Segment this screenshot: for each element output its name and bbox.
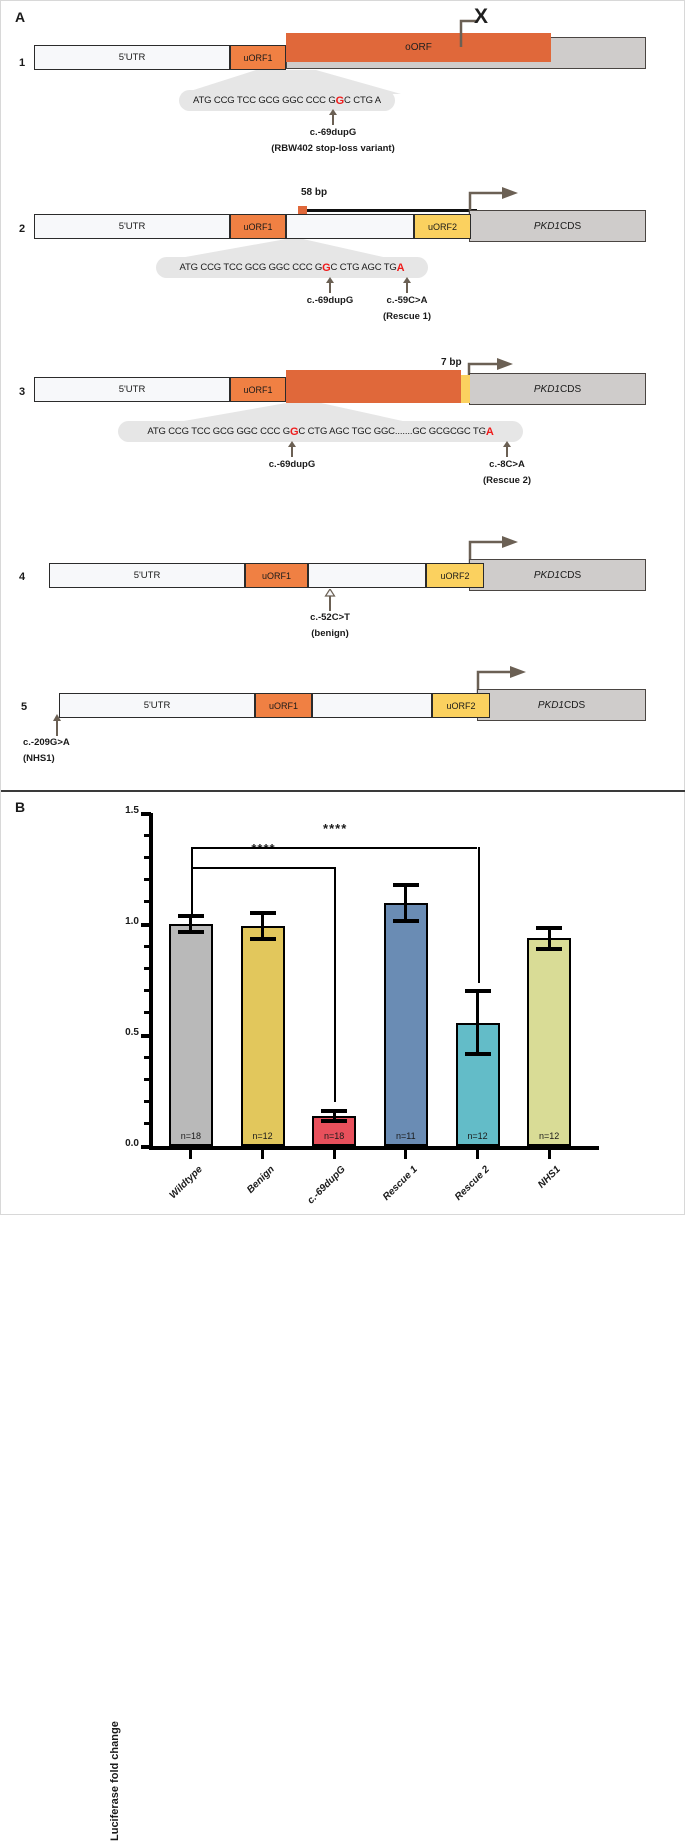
error-bar-cap-top: [465, 989, 491, 993]
construct-4-cds-suffix: CDS: [560, 570, 581, 581]
figure-root: A 1 oORF 5'UTR uORF1 X ATG CCG TCC GCG G…: [0, 0, 685, 1215]
y-tick-minor: [144, 856, 151, 859]
construct-3-cds-suffix: CDS: [560, 384, 581, 395]
y-tick-minor: [144, 834, 151, 837]
error-bar-cap-bottom: [536, 947, 562, 951]
construct-2-spacer: [286, 214, 414, 239]
construct-1-variant-note: (RBW402 stop-loss variant): [253, 143, 413, 154]
bar-n-label: n=12: [456, 1131, 500, 1141]
construct-4-cds-gene: PKD1: [534, 570, 560, 581]
x-tick-label-benign: Benign: [226, 1164, 276, 1214]
construct-5-variant-note: (NHS1): [23, 753, 143, 764]
construct-5-variant-name: c.-209G>A: [23, 737, 143, 748]
seq1-post: C CTG A: [344, 95, 381, 106]
error-bar-cap-top: [250, 911, 276, 915]
y-tick-major: [141, 923, 151, 927]
y-tick-minor: [144, 1011, 151, 1014]
error-bar-cap-bottom: [393, 919, 419, 923]
construct-4-variant-arrow-icon: [324, 589, 336, 611]
y-tick-label: 0.0: [105, 1138, 139, 1149]
construct-1-variant-arrow-icon: [327, 109, 339, 125]
x-tick: [189, 1150, 192, 1159]
construct-3-sequence: ATG CCG TCC GCG GGC CCC GGC CTG AGC TGC …: [118, 421, 523, 442]
construct-5-number: 5: [21, 701, 27, 713]
y-tick-minor: [144, 967, 151, 970]
construct-3-variant2-arrow-icon: [501, 441, 513, 457]
construct-5-uorf1: uORF1: [255, 693, 312, 718]
construct-3-utr-label: 5'UTR: [119, 384, 146, 395]
panel-a-label: A: [15, 9, 25, 25]
bar-n-label: n=12: [527, 1131, 571, 1141]
bar-wildtype[interactable]: [169, 924, 213, 1146]
construct-1-sequence: ATG CCG TCC GCG GGC CCC GGC CTG A: [179, 90, 395, 111]
x-tick: [404, 1150, 407, 1159]
error-bar-stem: [261, 913, 264, 940]
construct-4-uorf2: uORF2: [426, 563, 484, 588]
seq1-pre: ATG CCG TCC GCG GGC CCC G: [193, 95, 336, 106]
bar-nhs1[interactable]: [527, 938, 571, 1146]
construct-2-distance-label: 58 bp: [301, 187, 327, 198]
construct-4-utr-label: 5'UTR: [134, 570, 161, 581]
significance-stars: ****: [314, 821, 356, 836]
significance-bracket-line: [191, 867, 334, 869]
construct-4-spacer: [308, 563, 426, 588]
error-bar-stem: [404, 884, 407, 922]
error-bar-cap-bottom: [250, 937, 276, 941]
construct-3-variant2-note: (Rescue 2): [449, 475, 565, 486]
y-tick-label: 0.5: [105, 1027, 139, 1038]
x-tick: [333, 1150, 336, 1159]
x-tick-label-wildtype: Wildtype: [154, 1164, 204, 1214]
construct-3-variant2-name: c.-8C>A: [449, 459, 565, 470]
construct-4-uorf2-label: uORF2: [440, 571, 469, 581]
error-bar-cap-bottom: [465, 1052, 491, 1056]
seq2-hl2: A: [397, 262, 405, 274]
construct-5-cds: PKD1 CDS: [477, 689, 646, 721]
bar-n-label: n=18: [312, 1131, 356, 1141]
construct-1-variant-name: c.-69dupG: [273, 127, 393, 138]
bar-rescue-1[interactable]: [384, 903, 428, 1146]
seq2-hl: G: [322, 262, 330, 274]
y-axis-label: Luciferase fold change: [109, 1721, 121, 1841]
construct-3-extended-uorf: [286, 370, 461, 403]
error-bar-cap-top: [178, 914, 204, 918]
y-tick-minor: [144, 989, 151, 992]
construct-4-number: 4: [19, 571, 25, 583]
construct-4-uorf1-label: uORF1: [262, 571, 291, 581]
y-tick-minor: [144, 900, 151, 903]
bar-benign[interactable]: [241, 926, 285, 1146]
construct-4-uorf1: uORF1: [245, 563, 308, 588]
construct-2-utr-label: 5'UTR: [119, 221, 146, 232]
construct-5-uorf1-label: uORF1: [269, 701, 298, 711]
construct-1-uorf1-label: uORF1: [243, 53, 272, 63]
construct-4-cds: PKD1 CDS: [469, 559, 646, 591]
construct-1-number: 1: [19, 57, 25, 69]
x-axis-line: [149, 1146, 599, 1150]
construct-1-utr: 5'UTR: [34, 45, 230, 70]
construct-2-number: 2: [19, 223, 25, 235]
construct-5-utr: 5'UTR: [59, 693, 255, 718]
y-tick-minor: [144, 945, 151, 948]
construct-1-uorf1: uORF1: [230, 45, 286, 70]
construct-2-cds-gene: PKD1: [534, 221, 560, 232]
significance-bracket-right: [334, 867, 336, 1101]
construct-3-variant1-name: c.-69dupG: [232, 459, 352, 470]
significance-bracket-left: [191, 847, 193, 889]
construct-1-utr-label: 5'UTR: [119, 52, 146, 63]
y-tick-minor: [144, 1056, 151, 1059]
seq2-pre: ATG CCG TCC GCG GGC CCC G: [180, 262, 323, 273]
significance-bracket-line: [191, 847, 478, 849]
construct-2-variant2-note: (Rescue 1): [349, 311, 465, 322]
error-bar-cap-top: [536, 926, 562, 930]
seq3-hl: G: [290, 426, 298, 438]
seq3-mid: C CTG AGC TGC GGC.......GC GCGCGC TG: [298, 426, 485, 437]
x-tick-label-nhs1: NHS1: [513, 1164, 563, 1214]
seq1-hl: G: [336, 95, 344, 107]
construct-5-spacer: [312, 693, 432, 718]
x-tick: [476, 1150, 479, 1159]
construct-2-variant1-arrow-icon: [324, 277, 336, 293]
construct-5-variant-arrow-icon: [51, 714, 63, 736]
error-bar-cap-bottom: [321, 1119, 347, 1123]
construct-3-uorf1-label: uORF1: [243, 385, 272, 395]
y-tick-minor: [144, 878, 151, 881]
construct-4-variant-name: c.-52C>T: [270, 612, 390, 623]
construct-3-uorf2: [461, 375, 470, 403]
construct-2-uorf1-label: uORF1: [243, 222, 272, 232]
y-tick-major: [141, 812, 151, 816]
y-tick-label: 1.5: [105, 805, 139, 816]
error-bar-stem: [476, 991, 479, 1055]
significance-bracket-right: [478, 847, 480, 982]
bar-n-label: n=11: [384, 1131, 428, 1141]
error-bar-cap-bottom: [178, 930, 204, 934]
construct-3-utr: 5'UTR: [34, 377, 230, 402]
construct-2-cds-suffix: CDS: [560, 221, 581, 232]
construct-3-cds: PKD1 CDS: [469, 373, 646, 405]
y-tick-major: [141, 1034, 151, 1038]
seq3-hl2: A: [486, 426, 494, 438]
construct-2-sequence: ATG CCG TCC GCG GGC CCC GGC CTG AGC TGA: [156, 257, 428, 278]
construct-5-cds-gene: PKD1: [538, 700, 564, 711]
construct-2-distance-bar: [302, 209, 477, 212]
construct-5-utr-label: 5'UTR: [144, 700, 171, 711]
construct-2-utr: 5'UTR: [34, 214, 230, 239]
construct-2-uorf2: uORF2: [414, 214, 471, 239]
construct-3-cds-gene: PKD1: [534, 384, 560, 395]
y-tick-major: [141, 1145, 151, 1149]
x-tick-label-rescue-1: Rescue 1: [369, 1164, 419, 1214]
y-tick-minor: [144, 1100, 151, 1103]
x-tick-label-c-69dupg: c.-69dupG: [298, 1164, 348, 1214]
construct-5-uorf2-label: uORF2: [446, 701, 475, 711]
construct-4-utr: 5'UTR: [49, 563, 245, 588]
construct-4-variant-note: (benign): [270, 628, 390, 639]
construct-2-uorf1: uORF1: [230, 214, 286, 239]
construct-2-uorf2-label: uORF2: [428, 222, 457, 232]
construct-2-variant2-arrow-icon: [401, 277, 413, 293]
construct-1-x-marker: X: [474, 5, 488, 29]
seq3-pre: ATG CCG TCC GCG GGC CCC G: [147, 426, 290, 437]
y-tick-minor: [144, 1078, 151, 1081]
seq2-mid: C CTG AGC TG: [331, 262, 397, 273]
construct-3-variant1-arrow-icon: [286, 441, 298, 457]
construct-2-cds: PKD1 CDS: [469, 210, 646, 242]
error-bar-cap-top: [393, 883, 419, 887]
luciferase-bar-chart: Luciferase fold change 0.00.51.01.5n=18W…: [1, 791, 685, 1216]
y-tick-minor: [144, 1122, 151, 1125]
construct-5-uorf2: uORF2: [432, 693, 490, 718]
x-tick-label-rescue-2: Rescue 2: [441, 1164, 491, 1214]
x-tick: [261, 1150, 264, 1159]
bar-n-label: n=12: [241, 1131, 285, 1141]
y-tick-label: 1.0: [105, 916, 139, 927]
construct-3-distance-label: 7 bp: [441, 357, 462, 368]
construct-1-tss-blocked-icon: [456, 9, 526, 49]
construct-2-variant2-name: c.-59C>A: [349, 295, 465, 306]
x-tick: [548, 1150, 551, 1159]
construct-5-cds-suffix: CDS: [564, 700, 585, 711]
construct-3-number: 3: [19, 386, 25, 398]
error-bar-cap-top: [321, 1109, 347, 1113]
construct-3-uorf1: uORF1: [230, 377, 286, 402]
bar-n-label: n=18: [169, 1131, 213, 1141]
construct-1-oorf-label: oORF: [405, 42, 432, 53]
